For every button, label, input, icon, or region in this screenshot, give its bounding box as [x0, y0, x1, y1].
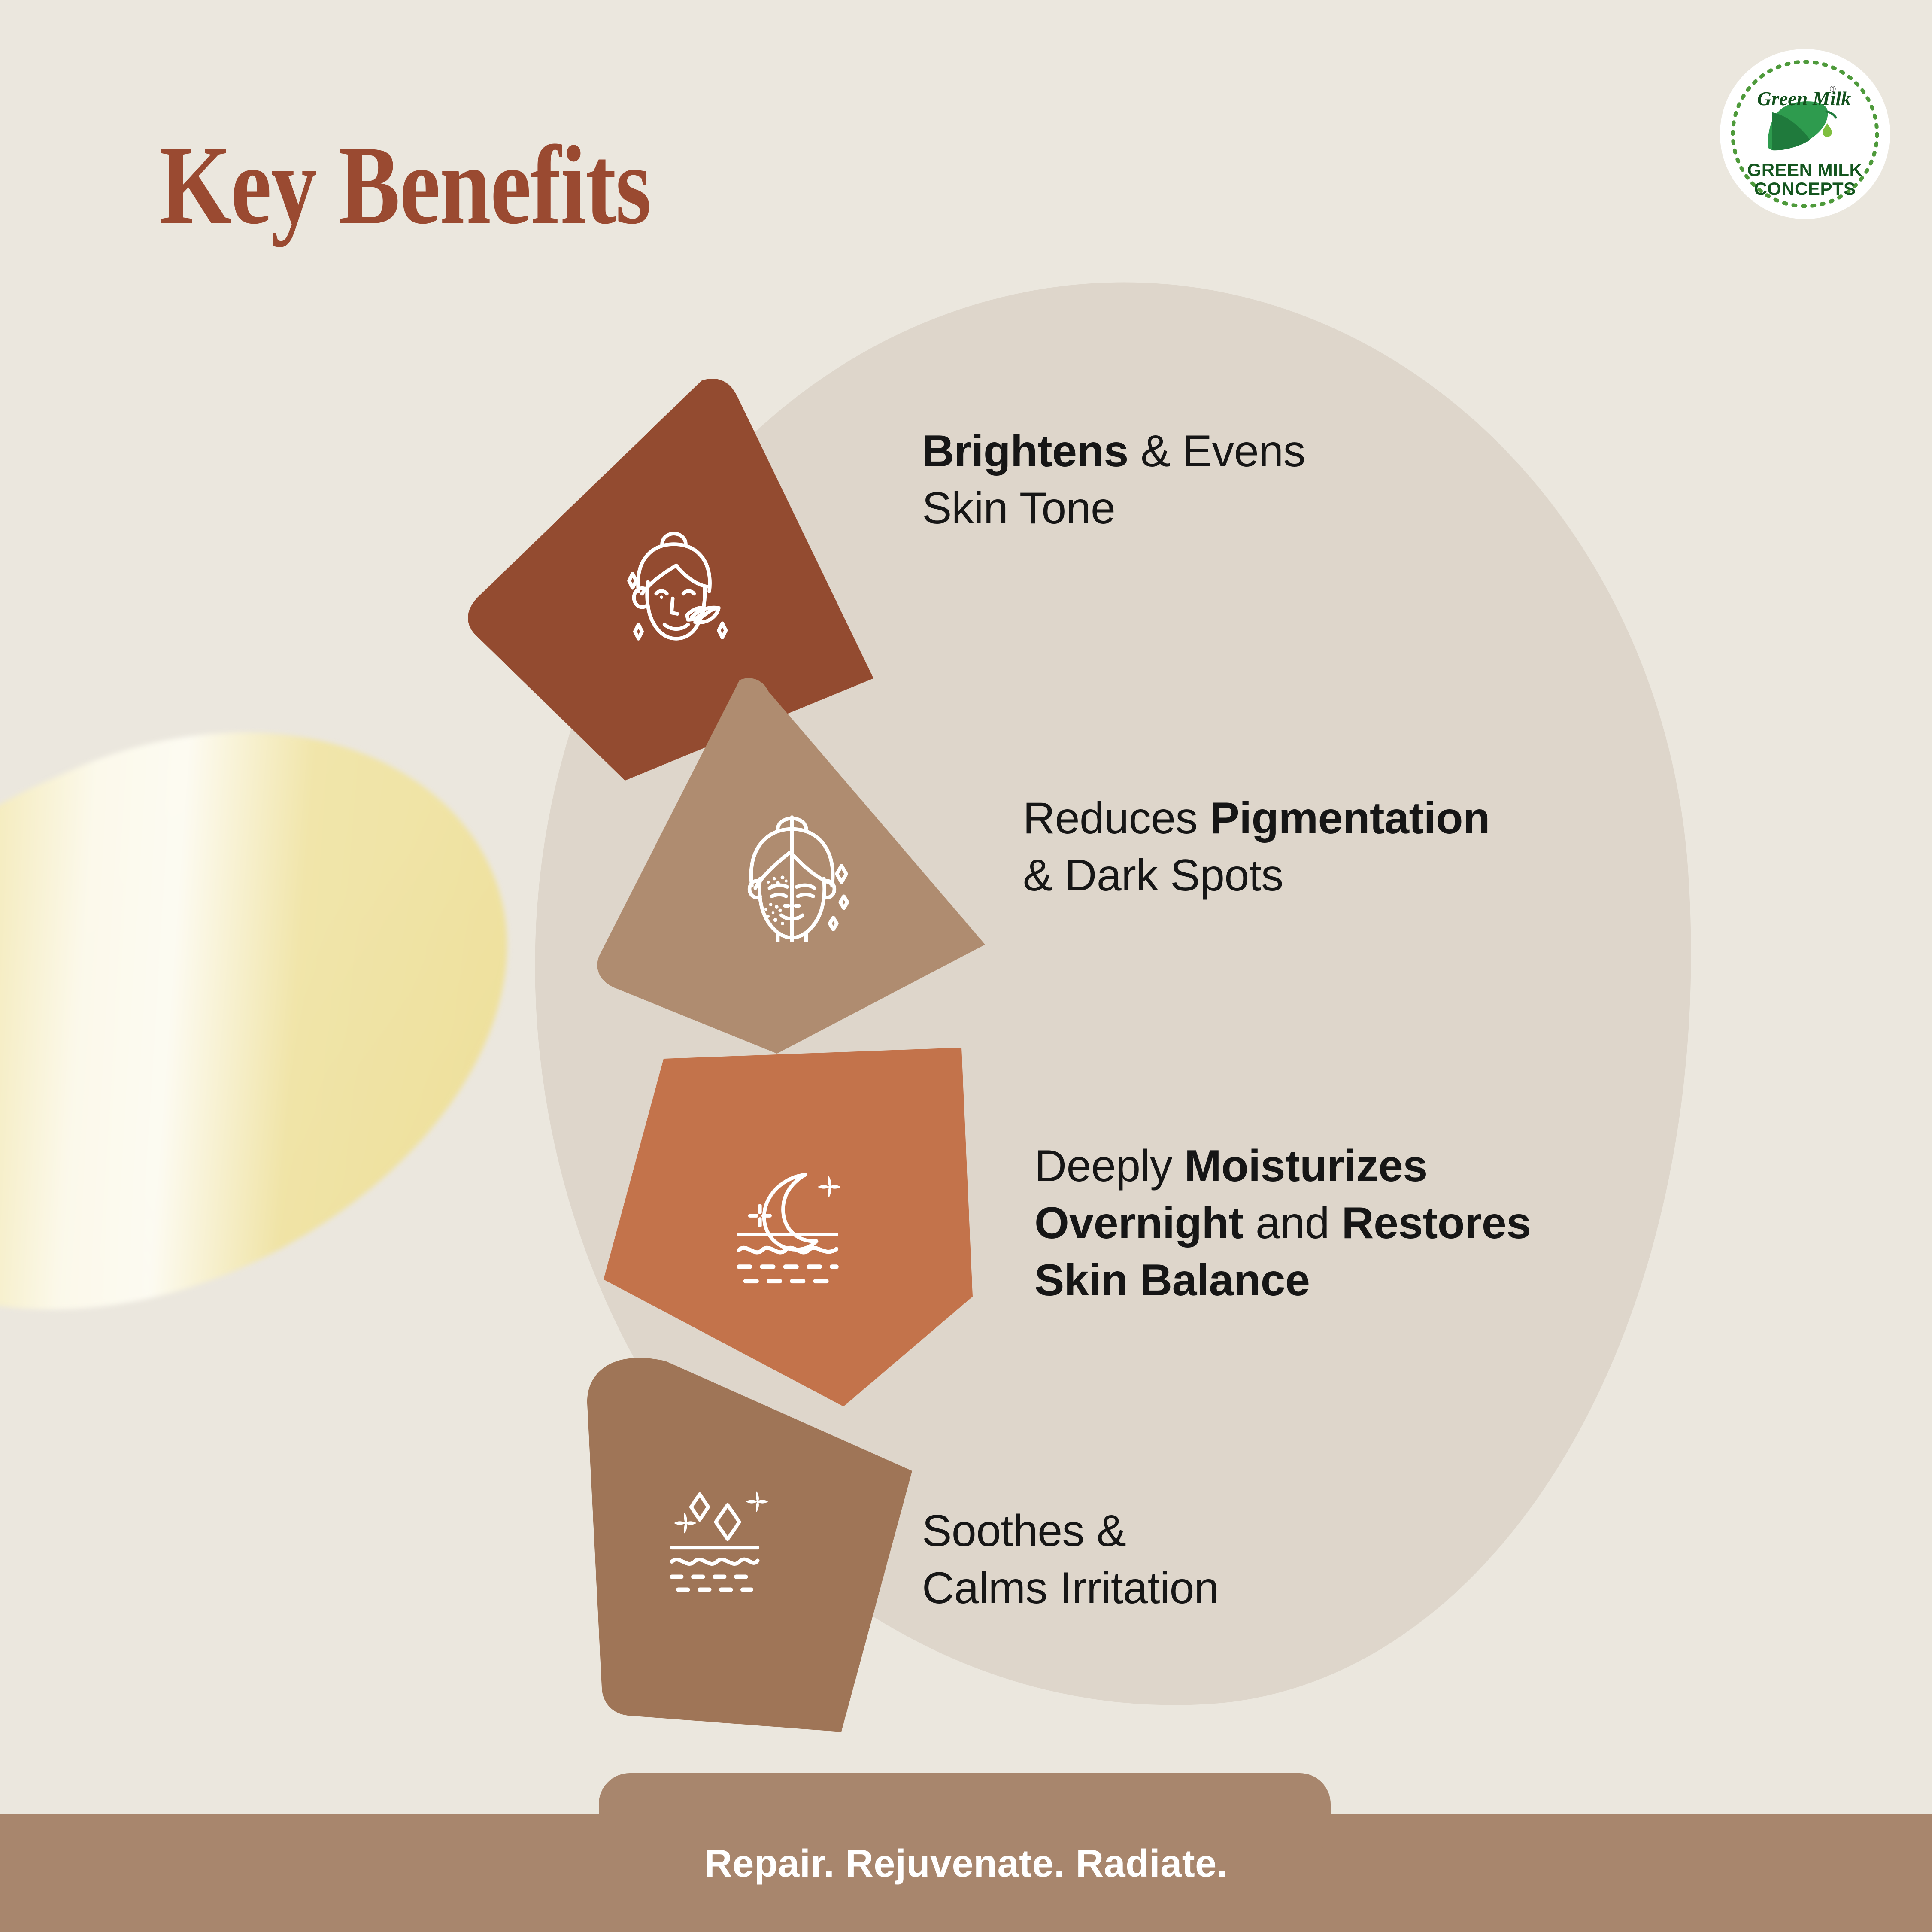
page-title: Key Benefits [160, 129, 651, 241]
infographic-canvas: Key Benefits Green Milk ® GREEN MILK CON… [0, 0, 1932, 1932]
benefit-line: Skin Balance [1034, 1252, 1670, 1309]
benefit-tile-4[interactable] [532, 1357, 919, 1735]
benefit-line: Overnight and Restores [1034, 1195, 1670, 1252]
sparkles-skin-layers-icon [661, 1481, 790, 1610]
benefit-label-3: Deeply MoisturizesOvernight and Restores… [1034, 1138, 1670, 1309]
green-milk-leaf-logo: Green Milk ® GREEN MILK CONCEPTS [1719, 48, 1891, 220]
benefit-label-1: Brightens & EvensSkin Tone [922, 423, 1566, 537]
benefit-line: Soothes & [922, 1503, 1523, 1560]
benefit-tile-2[interactable] [597, 678, 987, 1065]
footer-tab [599, 1773, 1331, 1842]
benefit-tile-3[interactable] [601, 1048, 974, 1408]
benefit-label-2: Reduces Pigmentation& Dark Spots [1023, 790, 1667, 904]
benefit-line: Calms Irritation [922, 1560, 1523, 1617]
moon-skin-layers-icon [721, 1161, 854, 1294]
footer-tagline: Repair. Rejuvenate. Radiate. [0, 1842, 1932, 1886]
brand-logo: Green Milk ® GREEN MILK CONCEPTS [1719, 48, 1891, 220]
brand-name-line-1: GREEN MILK [1747, 160, 1863, 180]
benefit-line: Brightens & Evens [922, 423, 1566, 480]
benefit-line: Deeply Moisturizes [1034, 1138, 1670, 1195]
benefit-line: Skin Tone [922, 480, 1566, 537]
split-face-pigmentation-icon [721, 801, 863, 942]
benefit-label-4: Soothes &Calms Irritation [922, 1503, 1523, 1617]
brand-script-name: Green Milk [1757, 88, 1851, 109]
benefit-line: & Dark Spots [1023, 847, 1667, 904]
brand-trademark: ® [1830, 85, 1836, 94]
face-sparkle-leaf-icon [603, 509, 745, 650]
brand-name-line-2: CONCEPTS [1754, 179, 1856, 199]
benefit-line: Reduces Pigmentation [1023, 790, 1667, 847]
